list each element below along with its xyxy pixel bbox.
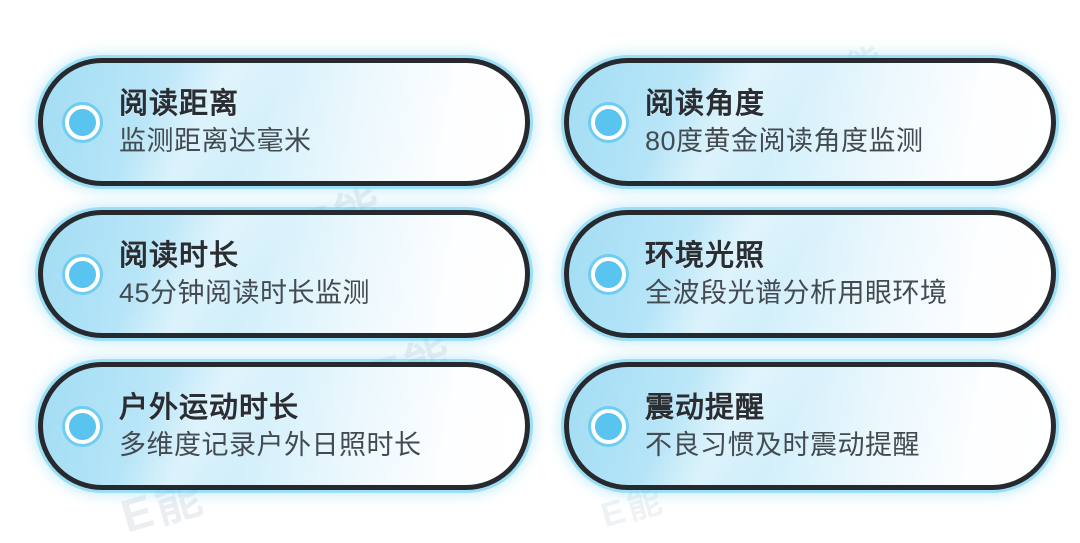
feature-card-text: 震动提醒 不良习惯及时震动提醒 xyxy=(645,394,920,459)
feature-card-subtitle: 45分钟阅读时长监测 xyxy=(119,280,370,307)
feature-card-title: 震动提醒 xyxy=(645,394,920,423)
feature-card-text: 阅读角度 80度黄金阅读角度监测 xyxy=(645,90,924,155)
bullet-ring-icon xyxy=(65,257,100,292)
bullet-ring-icon xyxy=(591,409,626,444)
feature-card-text: 阅读时长 45分钟阅读时长监测 xyxy=(119,242,370,307)
feature-card-reading-distance[interactable]: 阅读距离 监测距离达毫米 xyxy=(38,58,530,186)
feature-card-subtitle: 多维度记录户外日照时长 xyxy=(119,432,422,459)
feature-card-reading-duration[interactable]: 阅读时长 45分钟阅读时长监测 xyxy=(38,210,530,338)
feature-card-title: 环境光照 xyxy=(645,242,948,271)
bullet-ring-icon xyxy=(591,257,626,292)
feature-card-subtitle: 全波段光谱分析用眼环境 xyxy=(645,280,948,307)
feature-card-title: 户外运动时长 xyxy=(119,394,422,423)
feature-card-text: 户外运动时长 多维度记录户外日照时长 xyxy=(119,394,422,459)
feature-card-text: 阅读距离 监测距离达毫米 xyxy=(119,90,312,155)
feature-card-ambient-light[interactable]: 环境光照 全波段光谱分析用眼环境 xyxy=(564,210,1056,338)
feature-card-reading-angle[interactable]: 阅读角度 80度黄金阅读角度监测 xyxy=(564,58,1056,186)
feature-card-vibration-reminder[interactable]: 震动提醒 不良习惯及时震动提醒 xyxy=(564,362,1056,490)
feature-card-text: 环境光照 全波段光谱分析用眼环境 xyxy=(645,242,948,307)
feature-card-title: 阅读角度 xyxy=(645,90,924,119)
feature-card-title: 阅读距离 xyxy=(119,90,312,119)
feature-card-grid: 阅读距离 监测距离达毫米 阅读角度 80度黄金阅读角度监测 阅读时长 45分钟阅… xyxy=(38,58,1056,490)
feature-card-title: 阅读时长 xyxy=(119,242,370,271)
feature-card-outdoor-activity-duration[interactable]: 户外运动时长 多维度记录户外日照时长 xyxy=(38,362,530,490)
bullet-ring-icon xyxy=(591,105,626,140)
feature-card-subtitle: 80度黄金阅读角度监测 xyxy=(645,128,924,155)
bullet-ring-icon xyxy=(65,409,100,444)
feature-card-subtitle: 不良习惯及时震动提醒 xyxy=(645,432,920,459)
feature-card-subtitle: 监测距离达毫米 xyxy=(119,128,312,155)
bullet-ring-icon xyxy=(65,105,100,140)
